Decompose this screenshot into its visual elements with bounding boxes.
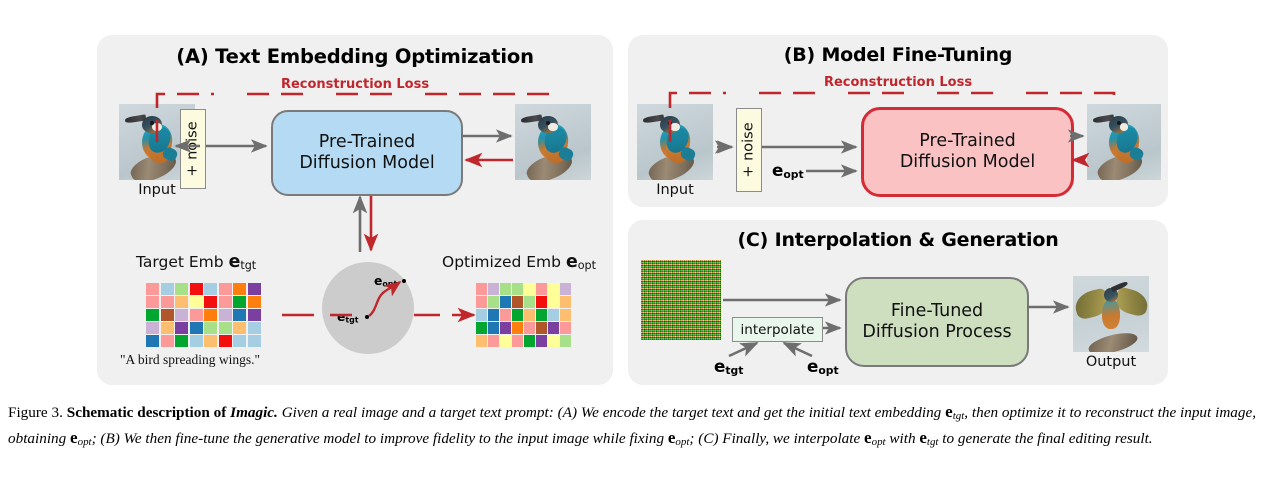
caption-e-opt: e: [70, 428, 78, 447]
embedding-cell: [146, 283, 159, 295]
panel-c-random-noise-image: [641, 260, 721, 340]
panel-b-model-line-2: Diffusion Model: [900, 152, 1035, 173]
panel-c-title: (C) Interpolation & Generation: [628, 229, 1168, 251]
optimized-embedding-title: Optimized Emb eopt: [442, 252, 596, 272]
flying-kingfisher-illustration: [1073, 276, 1149, 352]
embedding-cell: [524, 322, 535, 334]
embedding-cell: [476, 296, 487, 308]
embedding-cell: [488, 322, 499, 334]
embedding-cell: [548, 322, 559, 334]
embedding-cell: [146, 296, 159, 308]
embedding-cell: [175, 322, 188, 334]
embedding-cell: [161, 309, 174, 321]
target-embedding-symbol: e: [229, 252, 241, 272]
embedding-cell: [500, 283, 511, 295]
embedding-cell: [476, 335, 487, 347]
embedding-cell: [476, 309, 487, 321]
panel-a-reconstruction-loss-label: Reconstruction Loss: [97, 77, 613, 92]
caption-body-1: Given a real image and a target text pro…: [278, 404, 945, 421]
embedding-cell: [548, 283, 559, 295]
embedding-cell: [500, 335, 511, 347]
embedding-cell: [512, 309, 523, 321]
embedding-cell: [219, 296, 232, 308]
optimized-embedding-grid: [476, 283, 571, 347]
embedding-cell: [146, 335, 159, 347]
panel-b-noise-label: + noise: [741, 122, 757, 177]
embedding-cell: [560, 322, 571, 334]
embedding-cell: [512, 322, 523, 334]
panel-b-e-opt-label: eopt: [772, 160, 804, 181]
embedding-cell: [248, 309, 261, 321]
embedding-cell: [488, 296, 499, 308]
panel-b-reconstruction-loss-label: Reconstruction Loss: [628, 75, 1168, 90]
embedding-cell: [161, 322, 174, 334]
caption-body-5: with: [886, 430, 920, 447]
embedding-cell: [512, 296, 523, 308]
embedding-cell: [175, 283, 188, 295]
embedding-cell: [204, 322, 217, 334]
embedding-cell: [560, 335, 571, 347]
panel-a-title: (A) Text Embedding Optimization: [97, 45, 613, 68]
embedding-cell: [524, 335, 535, 347]
interpolate-label: interpolate: [741, 322, 815, 338]
target-embedding-subscript: tgt: [240, 259, 256, 272]
caption-imagic-name: Imagic.: [230, 404, 278, 421]
panel-a-model-line-2: Diffusion Model: [299, 153, 434, 174]
target-text-prompt: "A bird spreading wings.": [120, 352, 260, 368]
embedding-cell: [476, 322, 487, 334]
embedding-cell: [512, 283, 523, 295]
embedding-cell: [524, 309, 535, 321]
panel-b-model-line-1: Pre-Trained: [900, 131, 1035, 152]
caption-body-3: ; (B) We then fine-tune the generative m…: [92, 430, 668, 447]
embedding-cell: [500, 309, 511, 321]
caption-figure-number: Figure 3.: [8, 404, 63, 421]
embedding-cell: [248, 283, 261, 295]
embedding-cell: [536, 283, 547, 295]
embedding-cell: [190, 296, 203, 308]
kingfisher-bird-illustration: [515, 104, 591, 180]
embedding-cell: [560, 283, 571, 295]
embedding-cell: [204, 309, 217, 321]
target-embedding-title: Target Emb etgt: [136, 252, 256, 272]
panel-a-add-noise-box: + noise: [180, 109, 206, 189]
embedding-cell: [248, 322, 261, 334]
embedding-cell: [560, 296, 571, 308]
panel-a-pretrained-diffusion-model-box: Pre-Trained Diffusion Model: [271, 110, 463, 196]
embedding-cell: [190, 335, 203, 347]
e-tgt-point-label: etgt: [337, 310, 359, 324]
embedding-cell: [488, 335, 499, 347]
panel-b-reconstructed-image: [1087, 104, 1161, 180]
embedding-cell: [204, 335, 217, 347]
panel-b-pretrained-diffusion-model-box: Pre-Trained Diffusion Model: [861, 107, 1074, 197]
caption-bold-lead: Schematic description of: [67, 404, 230, 421]
e-tgt-point-dot: [365, 315, 369, 319]
embedding-cell: [204, 296, 217, 308]
panel-b-add-noise-box: + noise: [736, 108, 762, 192]
embedding-cell: [146, 322, 159, 334]
embedding-cell: [219, 283, 232, 295]
embedding-cell: [219, 335, 232, 347]
embedding-cell: [548, 296, 559, 308]
panel-c-finetuned-diffusion-process-box: Fine-Tuned Diffusion Process: [845, 277, 1029, 367]
panel-a-model-line-1: Pre-Trained: [299, 132, 434, 153]
embedding-cell: [548, 335, 559, 347]
interpolate-box: interpolate: [732, 317, 823, 342]
panel-c-model-line-1: Fine-Tuned: [862, 301, 1011, 322]
embedding-cell: [524, 283, 535, 295]
optimized-embedding-symbol: e: [566, 252, 578, 272]
embedding-cell: [512, 335, 523, 347]
embedding-cell: [219, 309, 232, 321]
panel-c-output-caption: Output: [1073, 354, 1149, 370]
embedding-cell: [560, 309, 571, 321]
embedding-cell: [488, 309, 499, 321]
embedding-cell: [204, 283, 217, 295]
embedding-cell: [190, 322, 203, 334]
embedding-cell: [175, 335, 188, 347]
embedding-cell: [161, 335, 174, 347]
optimized-embedding-label: Optimized Emb: [442, 253, 561, 271]
caption-body-4: ; (C) Finally, we interpolate: [689, 430, 864, 447]
embedding-cell: [548, 309, 559, 321]
embedding-cell: [233, 283, 246, 295]
figure-root: (A) Text Embedding Optimization Reconstr…: [0, 0, 1264, 487]
panel-c-e-opt-label: eopt: [807, 356, 839, 377]
panel-b-title: (B) Model Fine-Tuning: [628, 44, 1168, 66]
embedding-cell: [175, 309, 188, 321]
embedding-cell: [233, 309, 246, 321]
panel-a-reconstructed-image: [515, 104, 591, 180]
embedding-cell: [233, 296, 246, 308]
embedding-cell: [233, 335, 246, 347]
panel-c-e-tgt-label: etgt: [714, 356, 743, 377]
embedding-cell: [219, 322, 232, 334]
embedding-cell: [488, 283, 499, 295]
embedding-cell: [190, 283, 203, 295]
caption-body-6: to generate the final editing result.: [938, 430, 1152, 447]
panel-a-noise-label: + noise: [185, 121, 201, 176]
embedding-cell: [161, 283, 174, 295]
e-opt-point-dot: [402, 279, 406, 283]
e-opt-point-label: eopt: [374, 274, 397, 288]
panel-b-input-caption: Input: [637, 182, 713, 198]
embedding-cell: [248, 335, 261, 347]
embedding-cell: [476, 283, 487, 295]
panel-c-output-image: [1073, 276, 1149, 352]
embedding-cell: [536, 296, 547, 308]
embedding-cell: [500, 296, 511, 308]
embedding-cell: [536, 335, 547, 347]
target-embedding-label: Target Emb: [136, 253, 224, 271]
optimized-embedding-subscript: opt: [578, 259, 596, 272]
random-noise-pattern: [641, 260, 721, 340]
embedding-cell: [524, 296, 535, 308]
panel-c-model-line-2: Diffusion Process: [862, 322, 1011, 343]
embedding-cell: [146, 309, 159, 321]
kingfisher-bird-illustration: [1087, 104, 1161, 180]
embedding-cell: [500, 322, 511, 334]
embedding-cell: [175, 296, 188, 308]
embedding-cell: [536, 309, 547, 321]
embedding-cell: [248, 296, 261, 308]
target-embedding-grid: [146, 283, 261, 347]
embedding-space-circle: [322, 262, 414, 354]
caption-e-tgt: e: [945, 402, 953, 421]
embedding-cell: [233, 322, 246, 334]
figure-caption: Figure 3. Schematic description of Imagi…: [8, 399, 1256, 451]
panel-b-input-image: [637, 104, 713, 180]
embedding-cell: [161, 296, 174, 308]
embedding-cell: [190, 309, 203, 321]
embedding-cell: [536, 322, 547, 334]
kingfisher-bird-illustration: [637, 104, 713, 180]
